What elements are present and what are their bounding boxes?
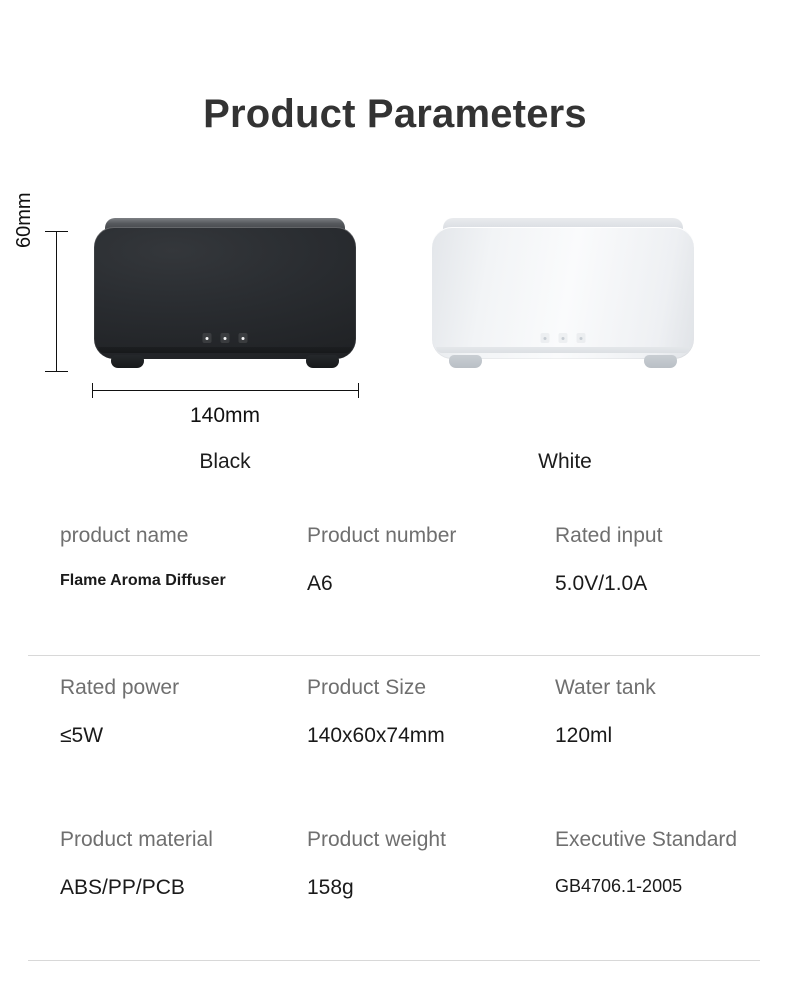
spec-cell: Rated input 5.0V/1.0A bbox=[555, 525, 662, 594]
product-image-white bbox=[432, 218, 694, 365]
led-indicator-icon bbox=[221, 333, 230, 343]
spec-cell: Product number A6 bbox=[307, 525, 456, 594]
spec-row: Rated power ≤5W Product Size 140x60x74mm… bbox=[0, 657, 790, 809]
spec-cell: Product material ABS/PP/PCB bbox=[60, 829, 213, 898]
spec-value: 120ml bbox=[555, 725, 656, 746]
row-divider bbox=[28, 655, 760, 656]
product-image-black bbox=[94, 218, 356, 365]
variant-label-black: Black bbox=[125, 450, 325, 474]
led-indicator-icon bbox=[577, 333, 586, 343]
spec-cell: Rated power ≤5W bbox=[60, 677, 179, 746]
device-foot-right bbox=[644, 355, 677, 368]
spec-label: Product number bbox=[307, 525, 456, 546]
led-indicator-icon bbox=[559, 333, 568, 343]
width-dimension-cap-right bbox=[358, 383, 359, 398]
device-foot-right bbox=[306, 355, 339, 368]
spec-label: Rated power bbox=[60, 677, 179, 698]
spec-value: A6 bbox=[307, 573, 456, 594]
device-front-face bbox=[94, 227, 356, 359]
spec-value: 5.0V/1.0A bbox=[555, 573, 662, 594]
device-bottom-lip bbox=[436, 347, 690, 353]
spec-value: Flame Aroma Diffuser bbox=[60, 573, 226, 589]
led-indicator-group bbox=[203, 333, 248, 343]
led-indicator-group bbox=[541, 333, 586, 343]
spec-value: ABS/PP/PCB bbox=[60, 877, 213, 898]
height-dimension-line bbox=[56, 231, 57, 371]
spec-label: Product material bbox=[60, 829, 213, 850]
spec-cell: Water tank 120ml bbox=[555, 677, 656, 746]
led-indicator-icon bbox=[239, 333, 248, 343]
spec-label: Rated input bbox=[555, 525, 662, 546]
spec-value: GB4706.1-2005 bbox=[555, 877, 737, 895]
spec-label: product name bbox=[60, 525, 226, 546]
height-dimension-label: 60mm bbox=[13, 192, 36, 248]
spec-label: Product Size bbox=[307, 677, 445, 698]
device-front-face bbox=[432, 227, 694, 359]
width-dimension-label: 140mm bbox=[92, 404, 358, 428]
led-indicator-icon bbox=[203, 333, 212, 343]
height-dimension-cap-bottom bbox=[45, 371, 68, 372]
product-showcase: 60mm 140mm bbox=[0, 0, 790, 500]
spec-cell: Product Size 140x60x74mm bbox=[307, 677, 445, 746]
variant-label-white: White bbox=[465, 450, 665, 474]
spec-value: ≤5W bbox=[60, 725, 179, 746]
width-dimension-cap-left bbox=[92, 383, 93, 398]
spec-cell: Executive Standard GB4706.1-2005 bbox=[555, 829, 737, 895]
specification-table: product name Flame Aroma Diffuser Produc… bbox=[0, 505, 790, 961]
device-bottom-lip bbox=[98, 347, 352, 353]
spec-row: Product material ABS/PP/PCB Product weig… bbox=[0, 809, 790, 961]
spec-cell: Product weight 158g bbox=[307, 829, 446, 898]
device-foot-left bbox=[449, 355, 482, 368]
spec-value: 140x60x74mm bbox=[307, 725, 445, 746]
led-indicator-icon bbox=[541, 333, 550, 343]
spec-label: Water tank bbox=[555, 677, 656, 698]
device-foot-left bbox=[111, 355, 144, 368]
height-dimension-cap-top bbox=[45, 231, 68, 232]
spec-label: Product weight bbox=[307, 829, 446, 850]
spec-cell: product name Flame Aroma Diffuser bbox=[60, 525, 226, 589]
spec-label: Executive Standard bbox=[555, 829, 737, 850]
width-dimension-line bbox=[92, 390, 358, 391]
spec-row: product name Flame Aroma Diffuser Produc… bbox=[0, 505, 790, 657]
spec-value: 158g bbox=[307, 877, 446, 898]
